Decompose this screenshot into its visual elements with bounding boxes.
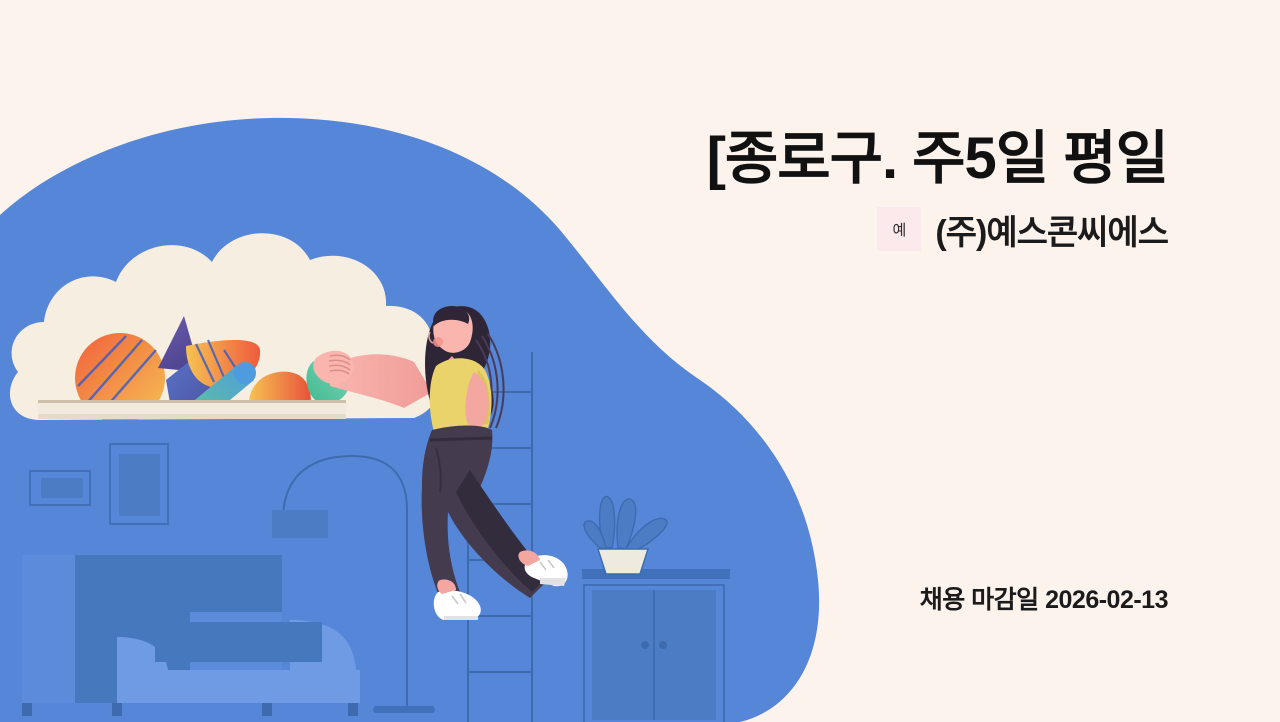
- company-logo-badge: 예: [877, 207, 921, 251]
- page-title: [종로구. 주5일 평일: [468, 128, 1168, 191]
- deadline-row: 채용 마감일 2026-02-13: [468, 580, 1168, 616]
- job-posting-banner: [종로구. 주5일 평일 예 (주)예스콘씨에스 채용 마감일 2026-02-…: [0, 0, 1280, 722]
- company-row: 예 (주)예스콘씨에스: [468, 205, 1168, 254]
- company-name: (주)예스콘씨에스: [935, 205, 1168, 254]
- shelf-plank: [38, 400, 346, 419]
- job-info-block: [종로구. 주5일 평일 예 (주)예스콘씨에스: [468, 128, 1168, 254]
- application-deadline: 채용 마감일 2026-02-13: [920, 586, 1168, 614]
